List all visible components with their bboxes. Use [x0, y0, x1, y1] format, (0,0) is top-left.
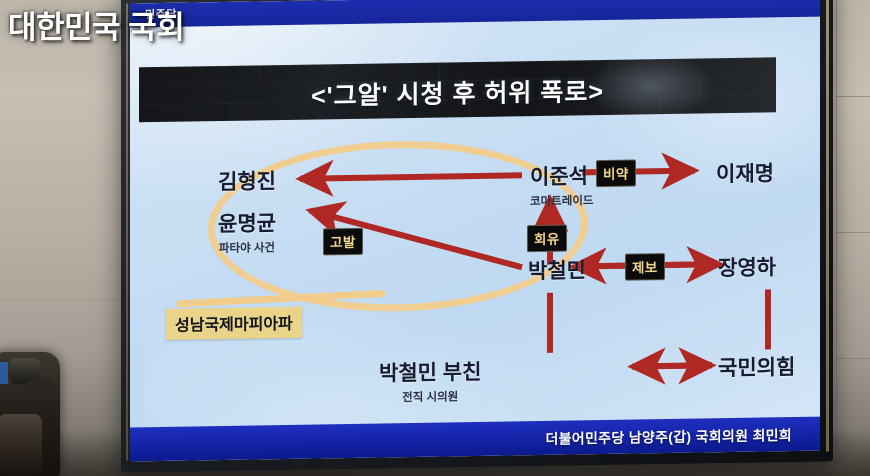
node-kim-hyungjin[interactable]: 김형진: [218, 165, 276, 196]
wall-tile-line: [836, 96, 870, 97]
node-label: 박철민: [528, 259, 586, 283]
node-label: 김형진: [218, 170, 276, 194]
edge-label-gobal: 고발: [323, 228, 363, 256]
node-park-father[interactable]: 박철민 부친 전직 시의원: [379, 356, 481, 406]
node-label: 국민의힘: [718, 356, 795, 380]
rig-body: [0, 414, 42, 476]
edge-label-jebo: 제보: [625, 253, 665, 281]
node-label: 박철민 부친: [379, 361, 481, 386]
wall-tile-line: [836, 358, 870, 359]
arrow-leejs-to-kim: [300, 175, 522, 178]
node-lee-jaemyung[interactable]: 이재명: [716, 157, 774, 188]
screen-bezel-highlight: [126, 3, 128, 460]
node-park-cheolmin[interactable]: 박철민: [528, 254, 586, 285]
node-sublabel: 코마트레이드: [530, 192, 593, 209]
relationship-diagram: 김형진 윤명균 파타야 사건 이준석 코마트레이드 이재명 박철민 장: [130, 111, 820, 428]
edge-label-bieyak: 비약: [596, 160, 636, 188]
node-label: 장영하: [718, 256, 776, 280]
node-lee-junseok[interactable]: 이준석 코마트레이드: [530, 160, 593, 209]
display-screen: 민주당 <'그알' 시청 후 허위 폭로>: [121, 0, 833, 473]
foreground-camera-rig: [0, 352, 60, 476]
broadcast-overlay-title: 대한민국 국회: [8, 2, 184, 47]
node-yoon-myunggyun[interactable]: 윤명균 파타야 사건: [218, 207, 276, 256]
arrow-ppp-to-father: [632, 365, 712, 366]
display-panel: 민주당 <'그알' 시청 후 허위 폭로>: [130, 0, 820, 461]
speaker-caption: 더불어민주당 남양주(갑) 국회의원 최민희: [545, 425, 792, 449]
node-label: 이준석: [530, 165, 588, 189]
node-label: 이재명: [716, 162, 774, 186]
node-ppp[interactable]: 국민의힘: [718, 351, 795, 382]
node-sublabel: 전직 시의원: [379, 388, 481, 406]
node-jang-youngha[interactable]: 장영하: [718, 251, 776, 282]
wall-tile-line: [836, 232, 870, 233]
wall-tile-line: [0, 300, 121, 301]
edge-label-hoeyu: 회유: [527, 225, 567, 253]
screen-bezel-highlight: [826, 0, 829, 452]
highlight-label-seongnam-mafia: 성남국제마피아파: [166, 307, 302, 340]
screenshot-root: 민주당 <'그알' 시청 후 허위 폭로>: [0, 0, 870, 476]
node-label: 윤명균: [218, 212, 276, 236]
node-sublabel: 파타야 사건: [218, 239, 276, 256]
rig-arm: [23, 378, 54, 394]
rig-indicator: [0, 362, 8, 384]
wall-tile-line: [836, 0, 837, 476]
